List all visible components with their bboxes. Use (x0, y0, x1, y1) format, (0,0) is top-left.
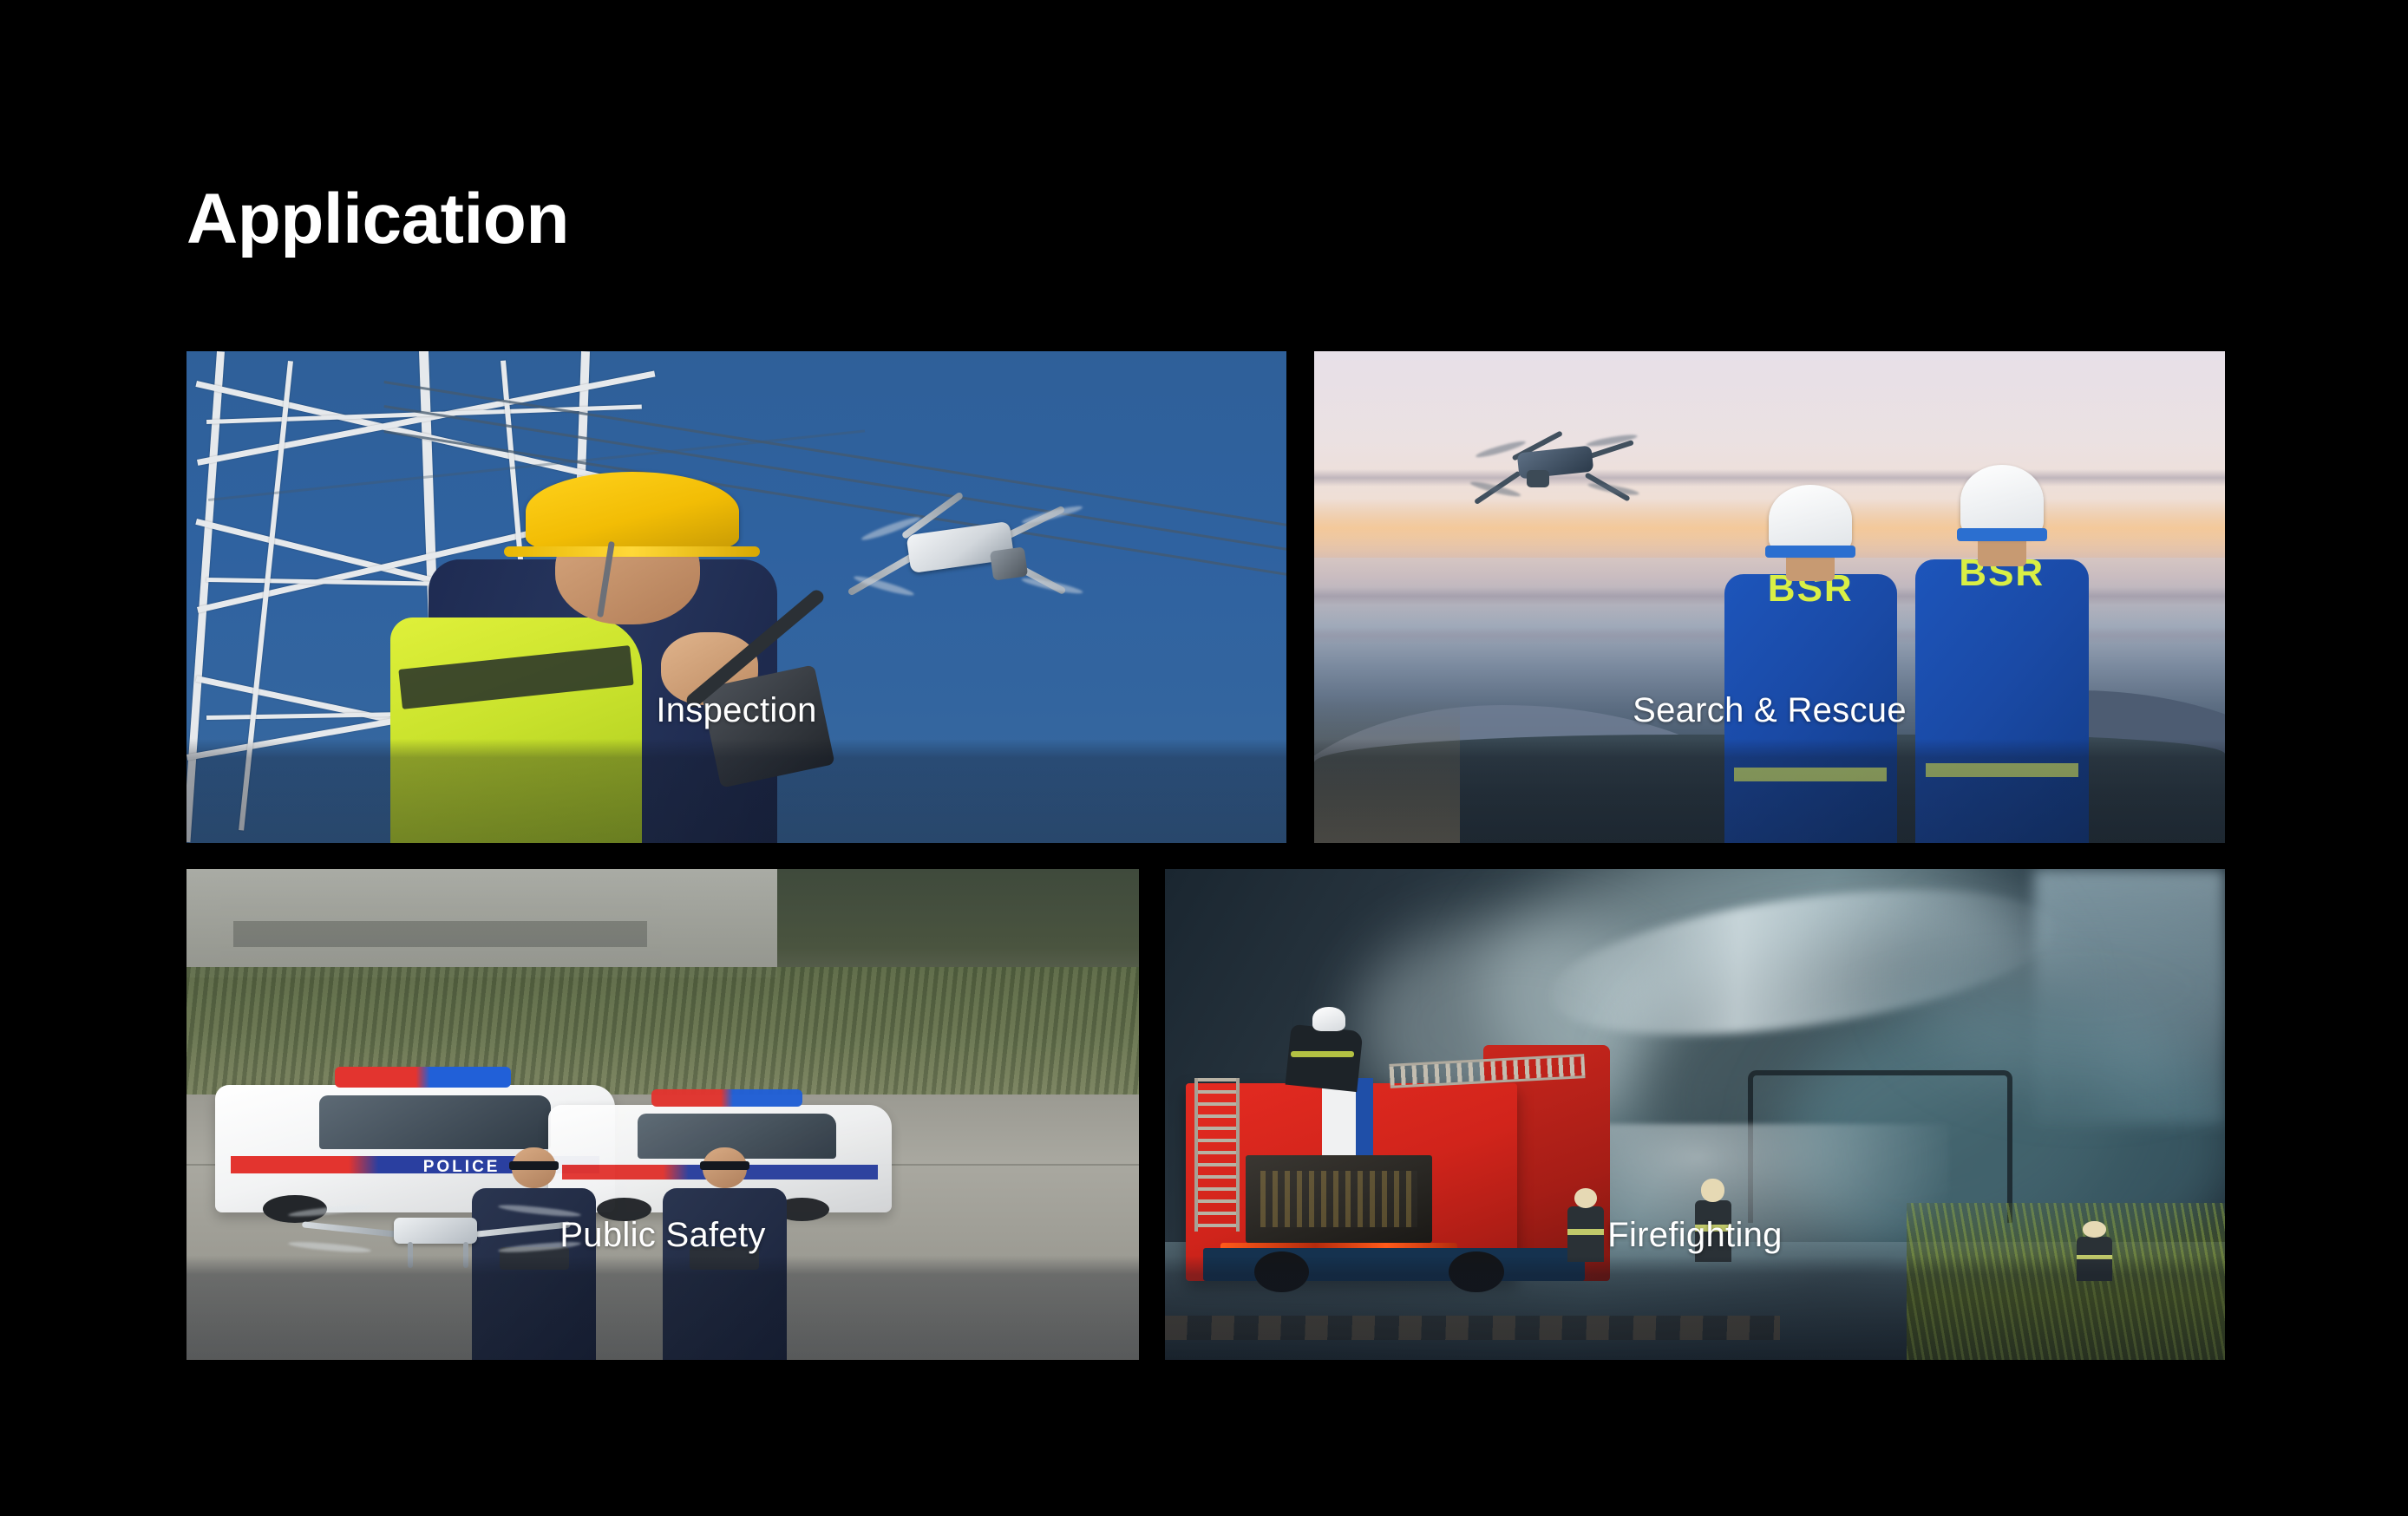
application-tile-firefighting[interactable]: Firefighting (1165, 869, 2225, 1360)
sunglasses-icon (700, 1161, 749, 1170)
firefighting-photo: Firefighting (1165, 869, 2225, 1360)
slide-root: Application (0, 0, 2408, 1516)
white-helmet (1769, 485, 1852, 553)
page-title: Application (186, 180, 569, 258)
tile-caption-firefighting: Firefighting (1165, 1216, 2225, 1255)
drone-inspection (868, 499, 1068, 603)
background-building (186, 869, 777, 977)
background-brush (186, 967, 1139, 1104)
tile-caption-public-safety: Public Safety (186, 1216, 1139, 1255)
public-safety-photo: POLICE (186, 869, 1139, 1360)
ground-rails (1165, 1316, 1780, 1340)
firefighter-on-truck (1288, 1007, 1360, 1089)
application-tile-search-rescue[interactable]: BSR BSR Search & Rescue (1314, 351, 2225, 843)
search-rescue-photo: BSR BSR Search & Rescue (1314, 351, 2225, 843)
ladder-icon (1194, 1078, 1240, 1232)
application-tile-public-safety[interactable]: POLICE (186, 869, 1139, 1360)
white-helmet (1312, 1007, 1345, 1032)
tile-caption-inspection: Inspection (186, 691, 1286, 730)
yellow-hard-hat (526, 472, 738, 552)
sunglasses-icon (509, 1161, 559, 1170)
rescue-responder: BSR (1915, 479, 2089, 843)
rescue-responder: BSR (1724, 499, 1898, 843)
application-tile-inspection[interactable]: Inspection (186, 351, 1286, 843)
white-helmet (1960, 465, 2044, 538)
inspection-photo: Inspection (186, 351, 1286, 843)
tile-caption-search-rescue: Search & Rescue (1314, 691, 2225, 730)
light-bar (651, 1089, 802, 1107)
light-bar (335, 1067, 511, 1088)
inspection-worker (351, 479, 835, 843)
